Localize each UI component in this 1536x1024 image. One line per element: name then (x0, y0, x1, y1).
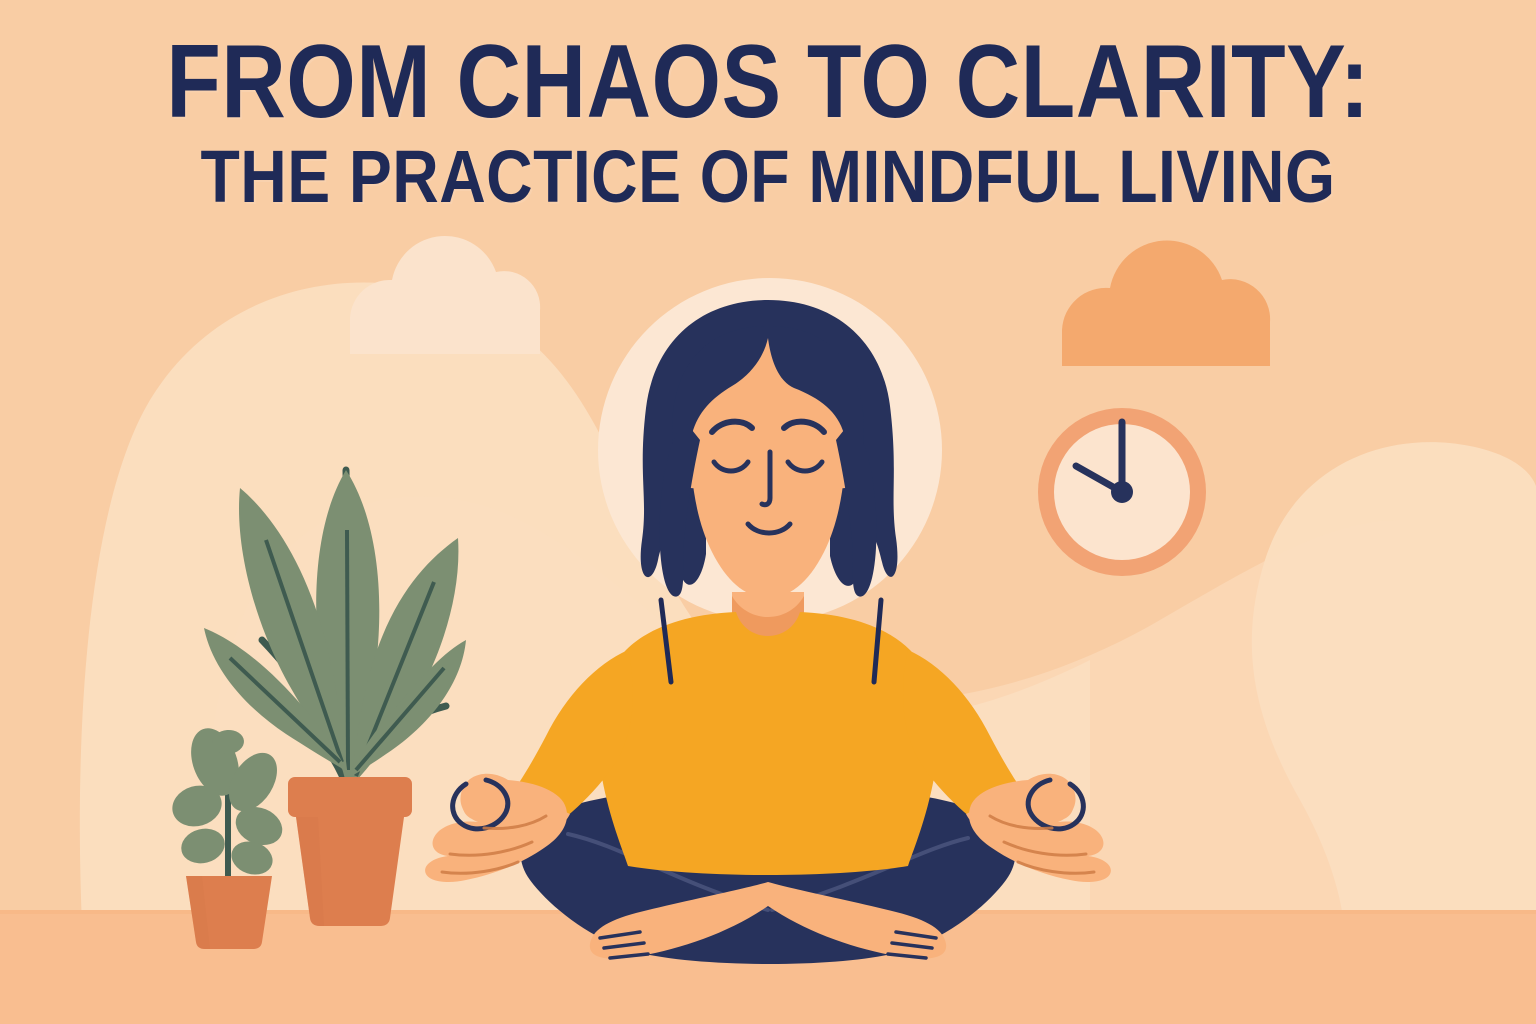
poster-canvas: FROM CHAOS TO CLARITY: THE PRACTICE OF M… (0, 0, 1536, 1024)
clock-center-dot (1111, 481, 1133, 503)
clock-layer (0, 0, 1536, 1024)
wall-clock-icon (1038, 408, 1206, 576)
